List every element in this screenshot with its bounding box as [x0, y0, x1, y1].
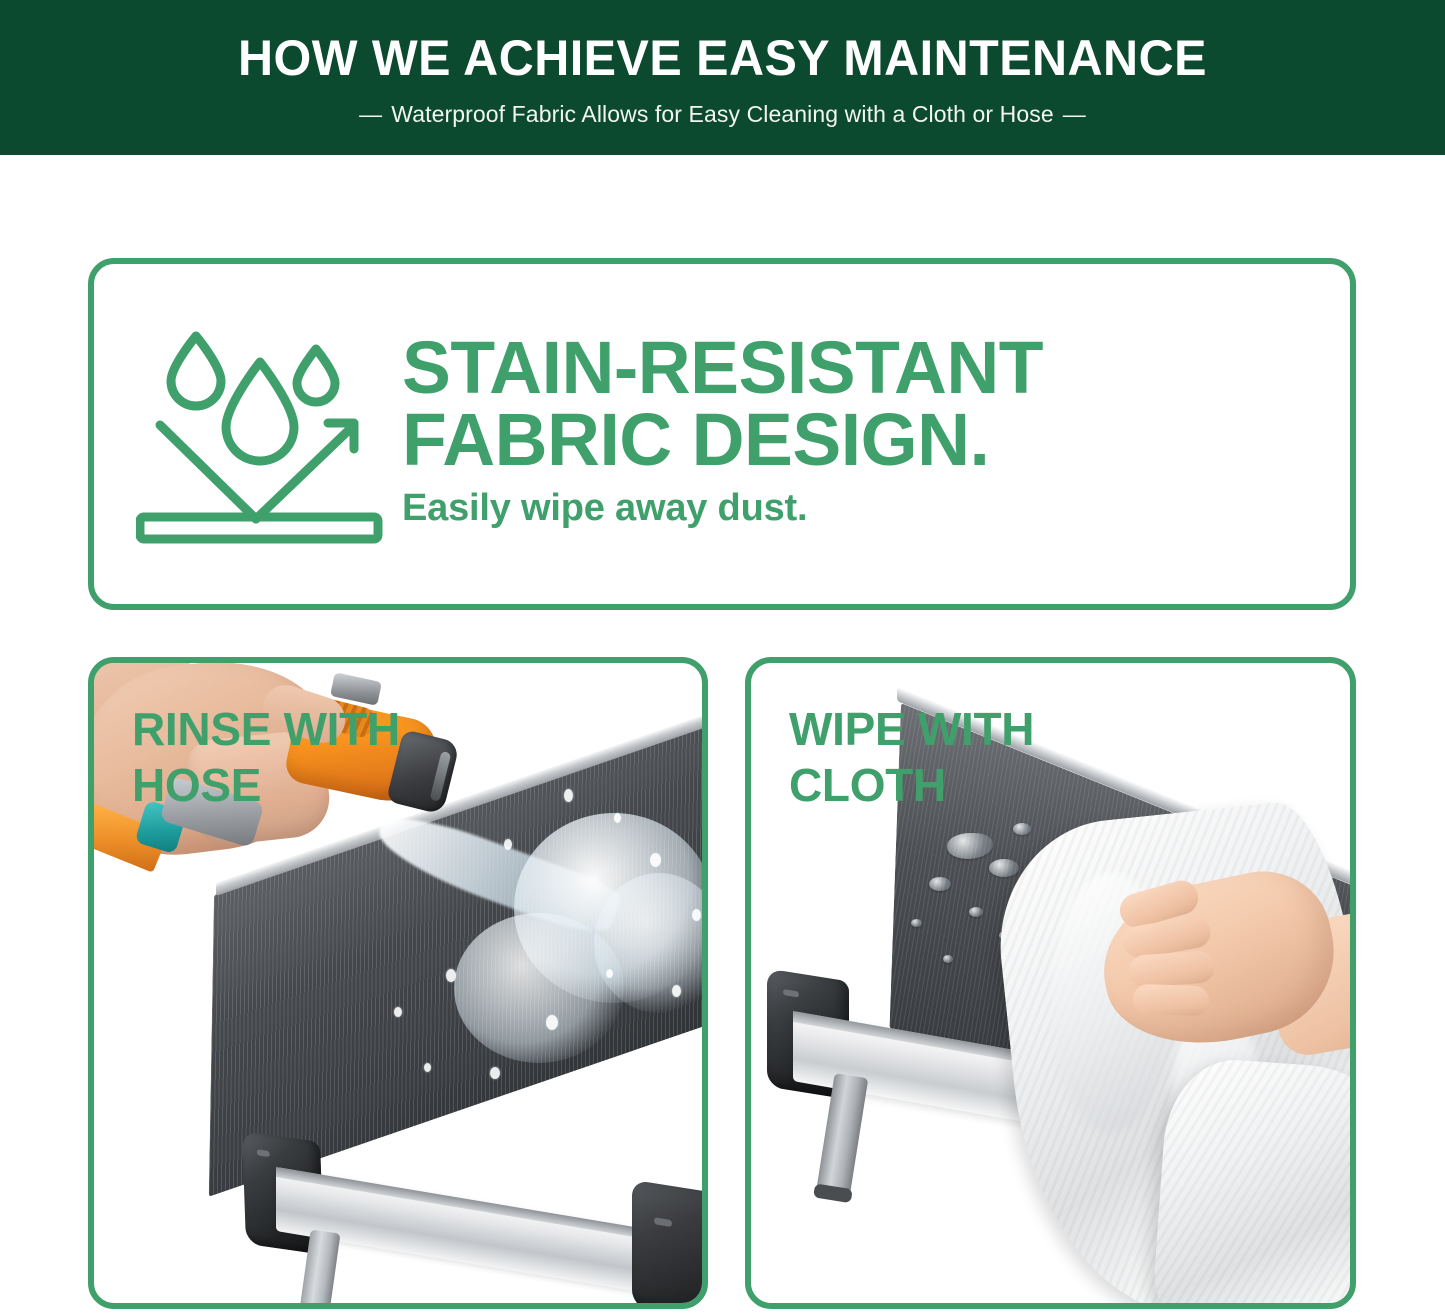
- water-droplet: [692, 909, 701, 921]
- page-title: HOW WE ACHIEVE EASY MAINTENANCE: [238, 33, 1207, 83]
- water-droplet: [394, 1007, 402, 1017]
- stain-resistant-card: STAIN-RESISTANT FABRIC DESIGN. Easily wi…: [88, 258, 1356, 610]
- stain-heading-line1: STAIN-RESISTANT: [402, 332, 1341, 404]
- subtitle-text: Waterproof Fabric Allows for Easy Cleani…: [391, 101, 1054, 127]
- stain-heading-line2: FABRIC DESIGN.: [402, 404, 1341, 476]
- water-droplet: [614, 813, 621, 823]
- water-droplet: [564, 789, 573, 802]
- stain-icon-container: [94, 319, 394, 549]
- subtitle-dash-right: —: [1054, 101, 1095, 128]
- header-banner: HOW WE ACHIEVE EASY MAINTENANCE —Waterpr…: [0, 0, 1445, 155]
- water-droplet: [424, 1063, 431, 1072]
- finger: [1132, 984, 1209, 1017]
- water-bead: [969, 907, 983, 917]
- water-bead: [989, 859, 1019, 877]
- water-droplet: [672, 985, 681, 997]
- water-droplet: [490, 1067, 500, 1079]
- page-subtitle: —Waterproof Fabric Allows for Easy Clean…: [350, 101, 1095, 128]
- cot-corner-cap-right: [632, 1180, 702, 1303]
- wipe-with-cloth-card: WIPE WITH CLOTH: [745, 657, 1356, 1309]
- water-bead: [943, 955, 953, 963]
- wipe-photo: [751, 663, 1350, 1303]
- water-bead: [929, 877, 951, 891]
- water-droplet: [446, 969, 456, 982]
- rinse-photo: [94, 663, 702, 1303]
- water-repellent-fabric-icon: [136, 319, 386, 549]
- finger: [1128, 950, 1216, 988]
- water-droplet: [546, 1015, 558, 1030]
- stain-heading: STAIN-RESISTANT FABRIC DESIGN.: [402, 332, 1341, 476]
- rinse-with-hose-card: RINSE WITH HOSE: [88, 657, 708, 1309]
- stain-subheading: Easily wipe away dust.: [402, 487, 1350, 530]
- stain-text-container: STAIN-RESISTANT FABRIC DESIGN. Easily wi…: [394, 332, 1350, 537]
- water-droplet: [650, 853, 661, 867]
- subtitle-dash-left: —: [350, 101, 391, 128]
- water-bead: [911, 919, 922, 927]
- water-bead: [1013, 823, 1031, 835]
- water-droplet: [504, 839, 512, 850]
- water-droplet: [606, 969, 613, 978]
